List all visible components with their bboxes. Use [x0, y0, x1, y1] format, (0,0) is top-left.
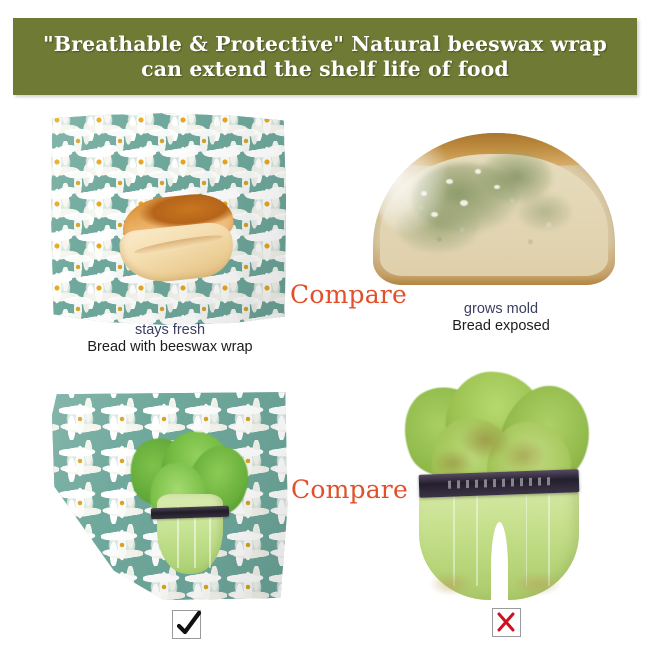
moldy-bread-loaf: [373, 133, 615, 285]
lettuce-rib: [548, 495, 550, 586]
compare-label-lettuce: Compare: [291, 475, 408, 504]
status-text: stays fresh: [0, 322, 340, 339]
caption-bread-protected: stays fresh Bread with beeswax wrap: [0, 322, 340, 356]
headline-text: "Breathable & Protective" Natural beeswa…: [13, 32, 637, 82]
mold-spore: [460, 200, 468, 206]
caption-bread-exposed: grows mold Bread exposed: [385, 301, 617, 335]
mold-spore: [446, 179, 453, 184]
wilted-lettuce: [404, 372, 594, 600]
bread-loaf-body: [373, 133, 615, 285]
mold-spore: [494, 185, 500, 189]
description-text: Bread exposed: [385, 318, 617, 335]
header-banner: "Breathable & Protective" Natural beeswa…: [13, 18, 637, 95]
status-text: grows mold: [385, 301, 617, 318]
infographic-page: "Breathable & Protective" Natural beeswa…: [0, 0, 650, 650]
band-print: [448, 477, 557, 489]
checkmark-icon: [172, 610, 201, 639]
fresh-lettuce: [128, 432, 250, 574]
browning-patch: [514, 573, 560, 596]
lettuce-rib: [476, 495, 478, 586]
description-text: Bread with beeswax wrap: [0, 339, 340, 356]
cross-icon: [492, 608, 521, 637]
mold-fuzz: [373, 142, 446, 233]
lettuce-rib: [526, 495, 528, 586]
fresh-bread-roll: [115, 190, 241, 286]
browning-patch: [503, 440, 545, 472]
